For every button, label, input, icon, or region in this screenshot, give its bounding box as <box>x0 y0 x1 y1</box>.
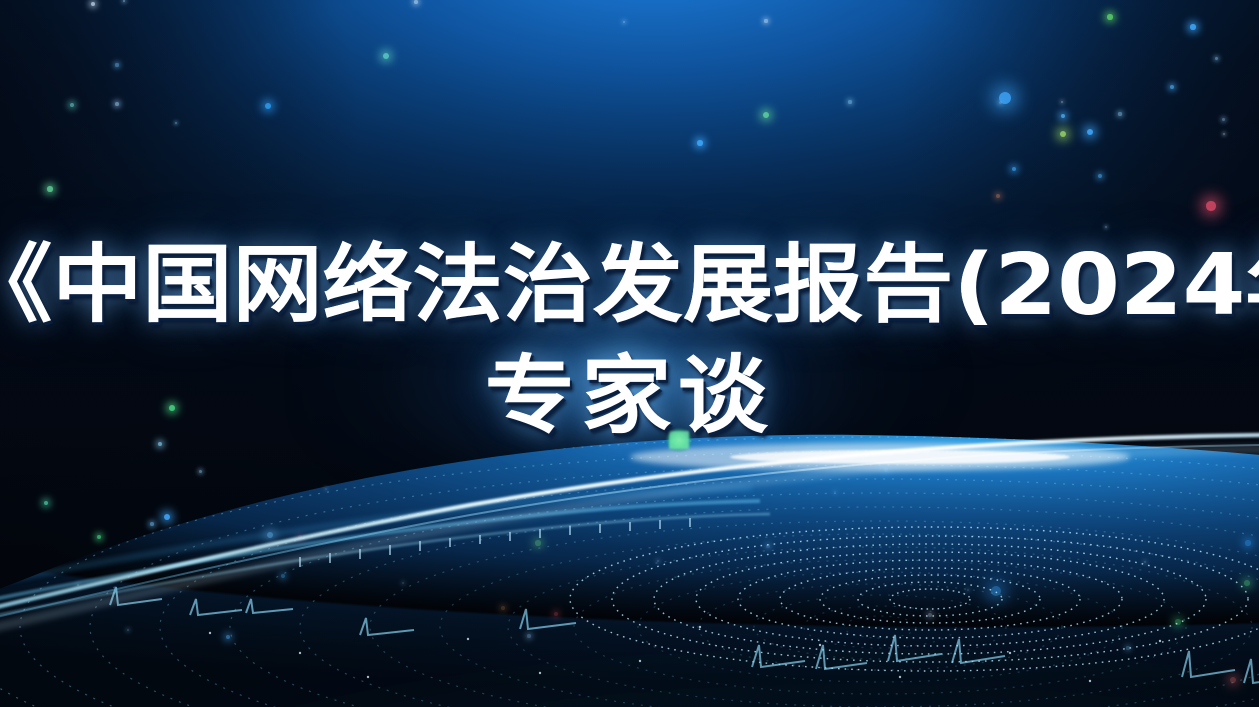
background-vignette <box>0 0 1259 707</box>
poster-canvas: 《中国网络法治发展报告(2024年)》 专家谈 <box>0 0 1259 707</box>
